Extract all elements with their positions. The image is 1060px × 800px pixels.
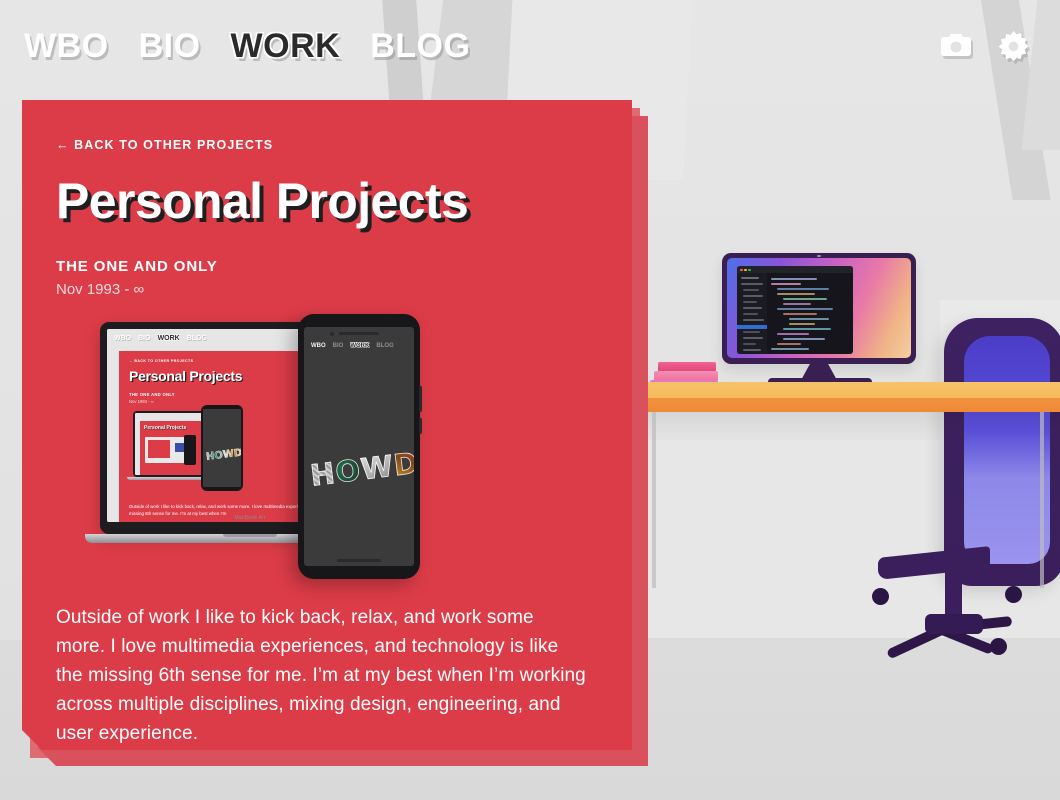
- page-title: Personal Projects: [56, 176, 592, 226]
- nav-link-work[interactable]: WORK: [231, 27, 341, 66]
- desk-leg: [1040, 412, 1044, 588]
- howdy-letter: D: [392, 451, 414, 478]
- desk-leg: [652, 412, 656, 588]
- code-editor-window: [737, 266, 853, 354]
- device-mockups: WBO BIO WORK BLOG ← B: [56, 314, 592, 582]
- preview-phone-mockup: HOWDY!: [201, 405, 243, 491]
- preview-phone-screen: HOWDY!: [203, 409, 241, 487]
- preview2-phone: [184, 435, 196, 465]
- preview-nav: WBO BIO WORK BLOG: [114, 335, 207, 342]
- howdy-hero-text: H O W D Y !: [309, 446, 414, 488]
- gear-icon[interactable]: [998, 31, 1030, 61]
- phone-nav-blog: BLOG: [376, 343, 393, 349]
- desk-shadow: [640, 412, 1060, 438]
- project-date-range: Nov 1993 - ∞: [56, 281, 592, 298]
- chair-hub: [925, 614, 983, 634]
- nav-link-blog[interactable]: BLOG: [370, 27, 470, 66]
- nav-links: WBO BIO WORK BLOG: [24, 27, 470, 66]
- main-navigation: WBO BIO WORK BLOG: [0, 0, 1060, 92]
- page-root: WBO BIO WORK BLOG ← BACK TO: [0, 0, 1060, 800]
- preview-nav-wbo: WBO: [114, 335, 131, 342]
- howdy-letter: O: [334, 458, 361, 485]
- project-card-wrapper: ← BACK TO OTHER PROJECTS Personal Projec…: [22, 100, 632, 750]
- preview-howdy-text: HOWDY!: [206, 446, 241, 463]
- phone-volume-button: [419, 418, 422, 434]
- close-icon: [740, 269, 743, 272]
- monitor-webcam-icon: [817, 255, 821, 257]
- minimize-icon: [744, 269, 747, 272]
- phone-camera-icon: [330, 332, 334, 336]
- nav-link-bio[interactable]: BIO: [139, 27, 201, 66]
- phone-nav-bio: BIO: [333, 343, 344, 349]
- project-body-copy: Outside of work I like to kick back, rel…: [56, 604, 586, 748]
- nav-link-wbo[interactable]: WBO: [24, 27, 109, 66]
- chair-caster: [872, 588, 889, 605]
- desk-top: [628, 382, 1060, 398]
- phone-speaker: [339, 332, 379, 335]
- floor-line: [600, 638, 1060, 640]
- monitor-screen: [727, 258, 911, 358]
- phone-power-button: [419, 386, 422, 412]
- phone-nav-work: WORK: [350, 343, 369, 349]
- desk-edge: [628, 398, 1060, 412]
- phone-nav: WBO BIO WORK BLOG: [311, 343, 394, 349]
- editor-sidebar: [737, 273, 767, 354]
- chair-caster: [990, 638, 1007, 655]
- phone-home-indicator: [337, 559, 381, 562]
- preview-nav-blog: BLOG: [187, 335, 207, 342]
- camera-icon[interactable]: [940, 31, 972, 61]
- phone-nav-wbo: WBO: [311, 343, 326, 349]
- laptop-notch: [223, 534, 277, 537]
- back-to-projects-link[interactable]: ← BACK TO OTHER PROJECTS: [56, 138, 273, 152]
- project-subtitle: THE ONE AND ONLY: [56, 258, 592, 275]
- preview-nav-bio: BIO: [138, 335, 150, 342]
- desktop-monitor: [722, 253, 916, 364]
- preview-nav-work: WORK: [158, 335, 180, 342]
- chair-cushion: [964, 336, 1050, 564]
- nav-actions: [940, 31, 1036, 61]
- howdy-letter: H: [309, 461, 336, 488]
- project-card: ← BACK TO OTHER PROJECTS Personal Projec…: [22, 100, 632, 750]
- phone-mockup: WBO BIO WORK BLOG H O W D Y !: [298, 314, 420, 579]
- phone-screen: WBO BIO WORK BLOG H O W D Y !: [304, 327, 414, 566]
- maximize-icon: [748, 269, 751, 272]
- window-titlebar: [737, 266, 853, 273]
- chair-caster: [1005, 586, 1022, 603]
- howdy-letter: W: [360, 454, 395, 482]
